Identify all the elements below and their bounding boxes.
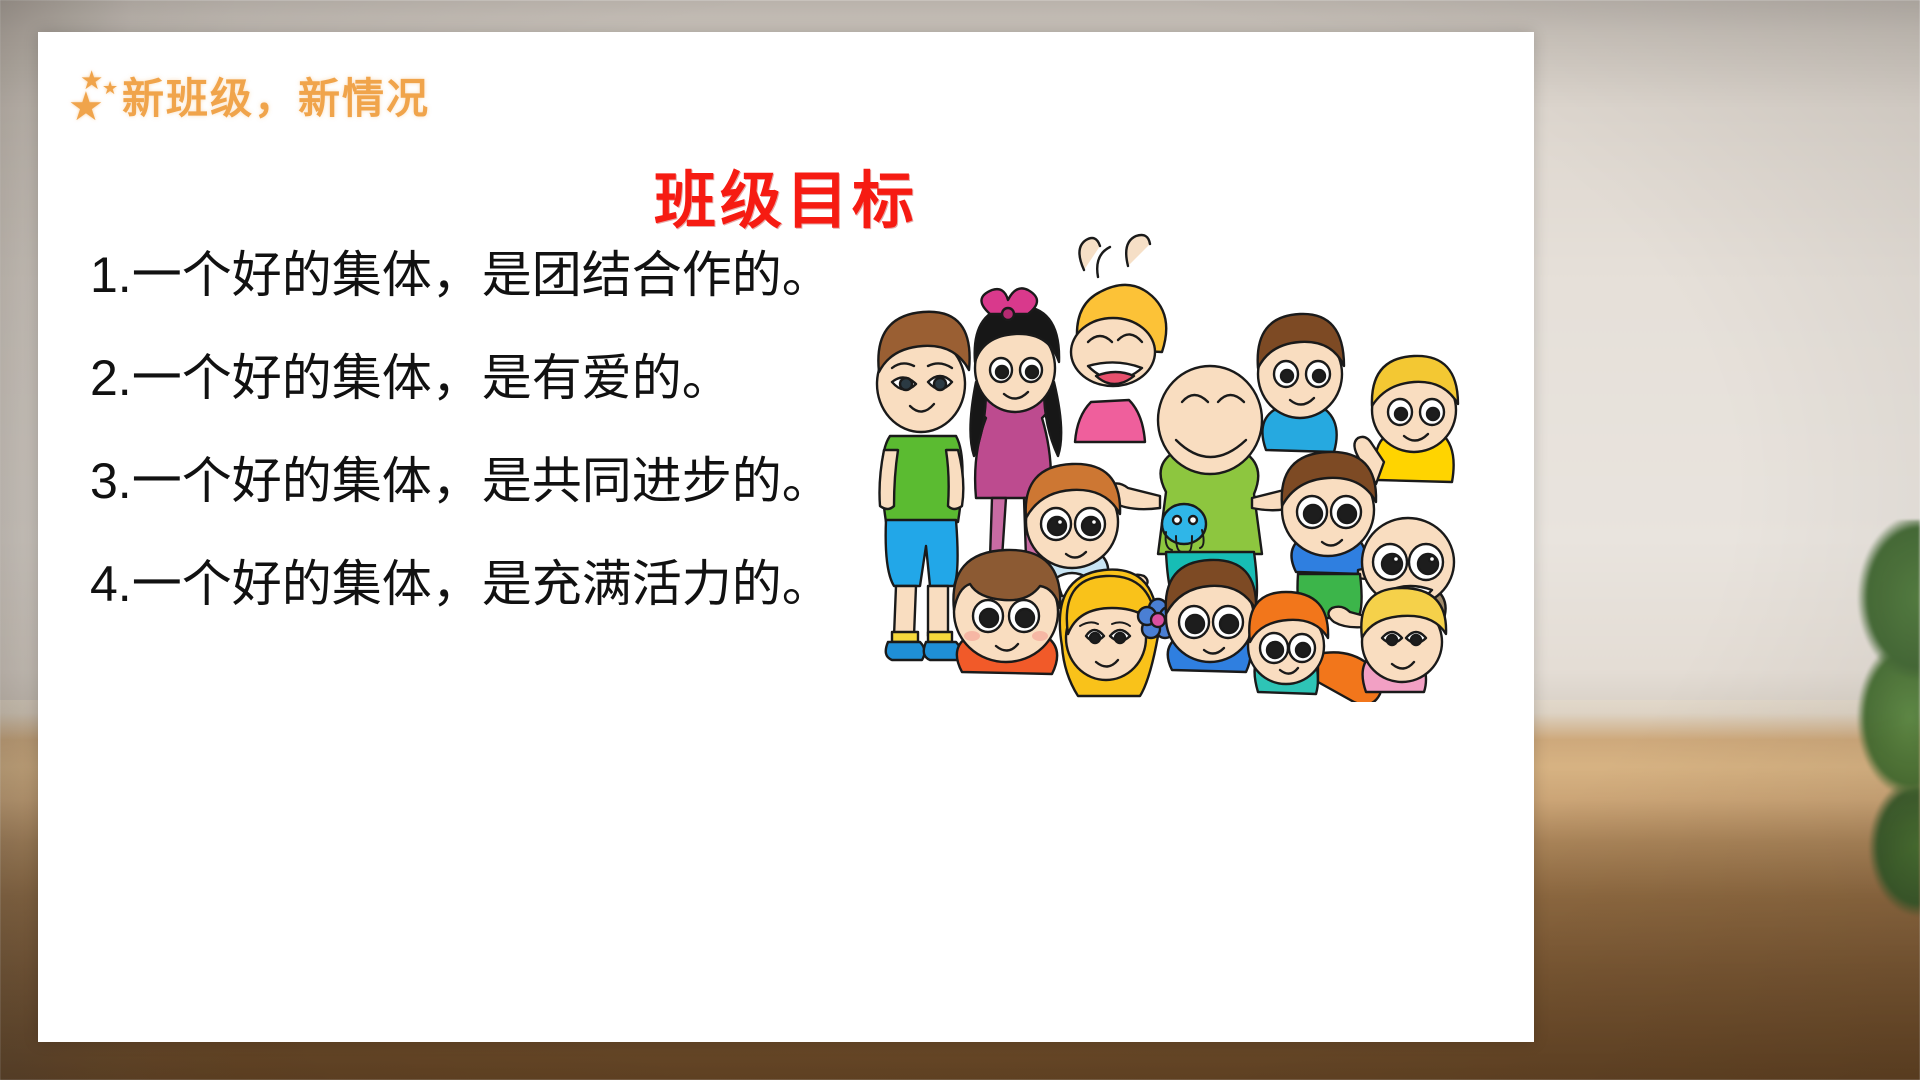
list-item: 3.一个好的集体，是共同进步的。 xyxy=(90,456,910,507)
star-icon: ★ xyxy=(102,79,118,97)
star-decoration-group: ★ ★ ★ xyxy=(60,65,122,125)
section-heading: 新班级，新情况 xyxy=(122,65,430,126)
list-item: 4.一个好的集体，是充满活力的。 xyxy=(90,559,910,610)
list-item: 2.一个好的集体，是有爱的。 xyxy=(90,353,910,404)
slide-header: ★ ★ ★ 新班级，新情况 xyxy=(60,60,430,130)
presentation-slide: ★ ★ ★ 新班级，新情况 班级目标 1.一个好的集体，是团结合作的。 2.一个… xyxy=(38,32,1534,1042)
goal-list: 1.一个好的集体，是团结合作的。 2.一个好的集体，是有爱的。 3.一个好的集体… xyxy=(90,250,910,610)
star-icon: ★ xyxy=(68,87,104,127)
list-item: 1.一个好的集体，是团结合作的。 xyxy=(90,250,910,301)
group-of-children-illustration xyxy=(866,222,1476,702)
